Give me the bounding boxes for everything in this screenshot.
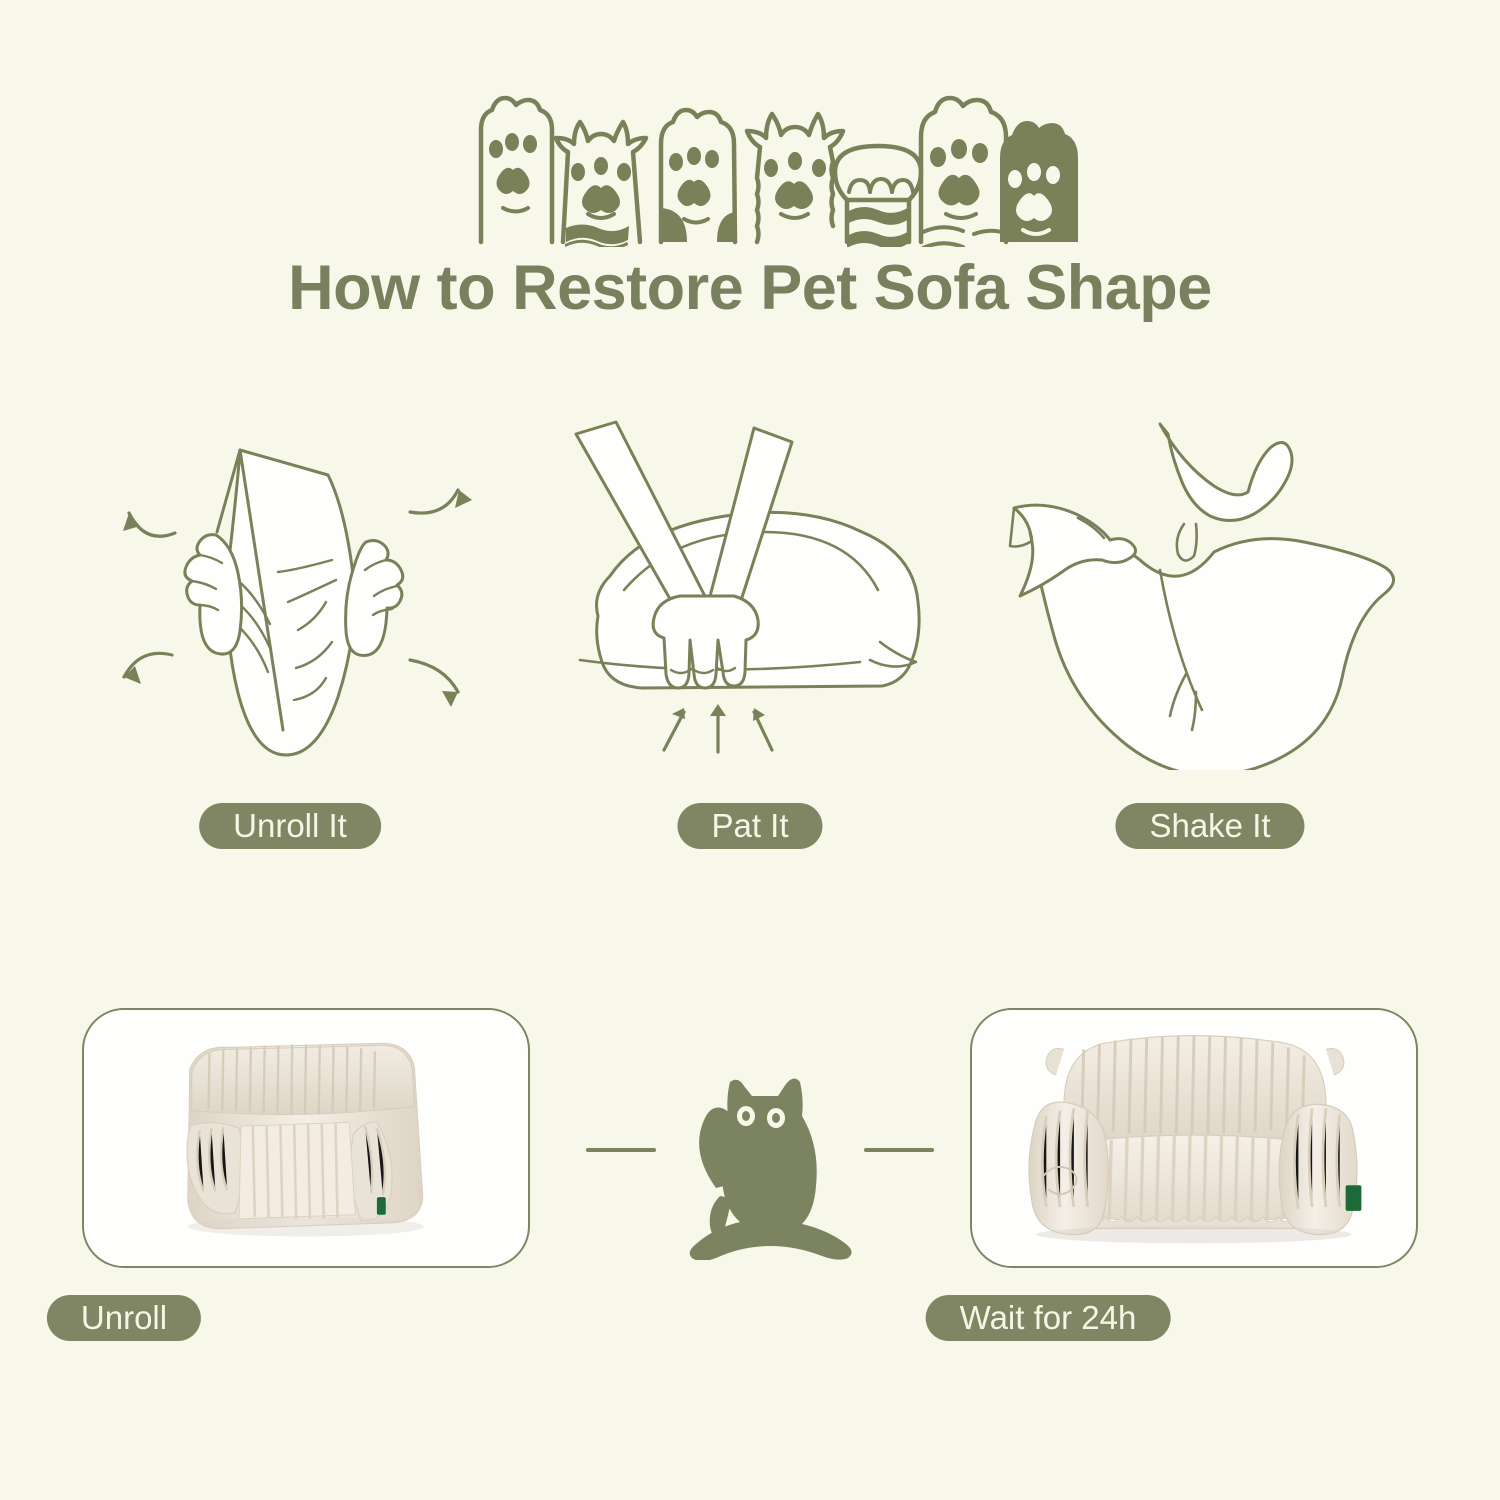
paw-5 <box>835 146 921 247</box>
product-photo-after <box>970 1008 1418 1268</box>
step-label-shake-it: Shake It <box>1115 803 1304 849</box>
cat-paws-banner <box>0 62 1500 247</box>
page-title: How to Restore Pet Sofa Shape <box>0 252 1500 324</box>
step-shake-it: Shake It <box>1000 420 1420 860</box>
hands-patting-cushion-icon <box>540 420 960 770</box>
paw-3 <box>661 110 735 242</box>
infographic-page: How to Restore Pet Sofa Shape <box>0 0 1500 1500</box>
brand-tag <box>377 1197 386 1215</box>
step-pat-it: Pat It <box>540 420 960 860</box>
brand-tag <box>1346 1185 1362 1211</box>
step-unroll-it: Unroll It <box>80 420 500 860</box>
comparison-label-after: Wait for 24h <box>926 1295 1171 1341</box>
hands-shaking-draped-fabric-icon <box>1000 420 1420 770</box>
divider-dash-right <box>864 1148 934 1152</box>
sitting-cat-silhouette-icon <box>620 1060 880 1260</box>
paw-7 <box>1000 121 1078 242</box>
hands-stretching-rolled-bundle-icon <box>80 420 500 770</box>
steps-row: Unroll It <box>0 420 1500 860</box>
comparison-label-before: Unroll <box>47 1295 201 1341</box>
paw-2 <box>556 122 646 247</box>
paw-6 <box>921 98 1006 247</box>
paw-1 <box>481 98 552 242</box>
product-photo-before <box>82 1008 530 1268</box>
step-label-pat-it: Pat It <box>677 803 822 849</box>
paw-4 <box>747 114 843 242</box>
comparison-row: Unroll Wait for 24h <box>0 1000 1500 1400</box>
step-label-unroll-it: Unroll It <box>199 803 381 849</box>
